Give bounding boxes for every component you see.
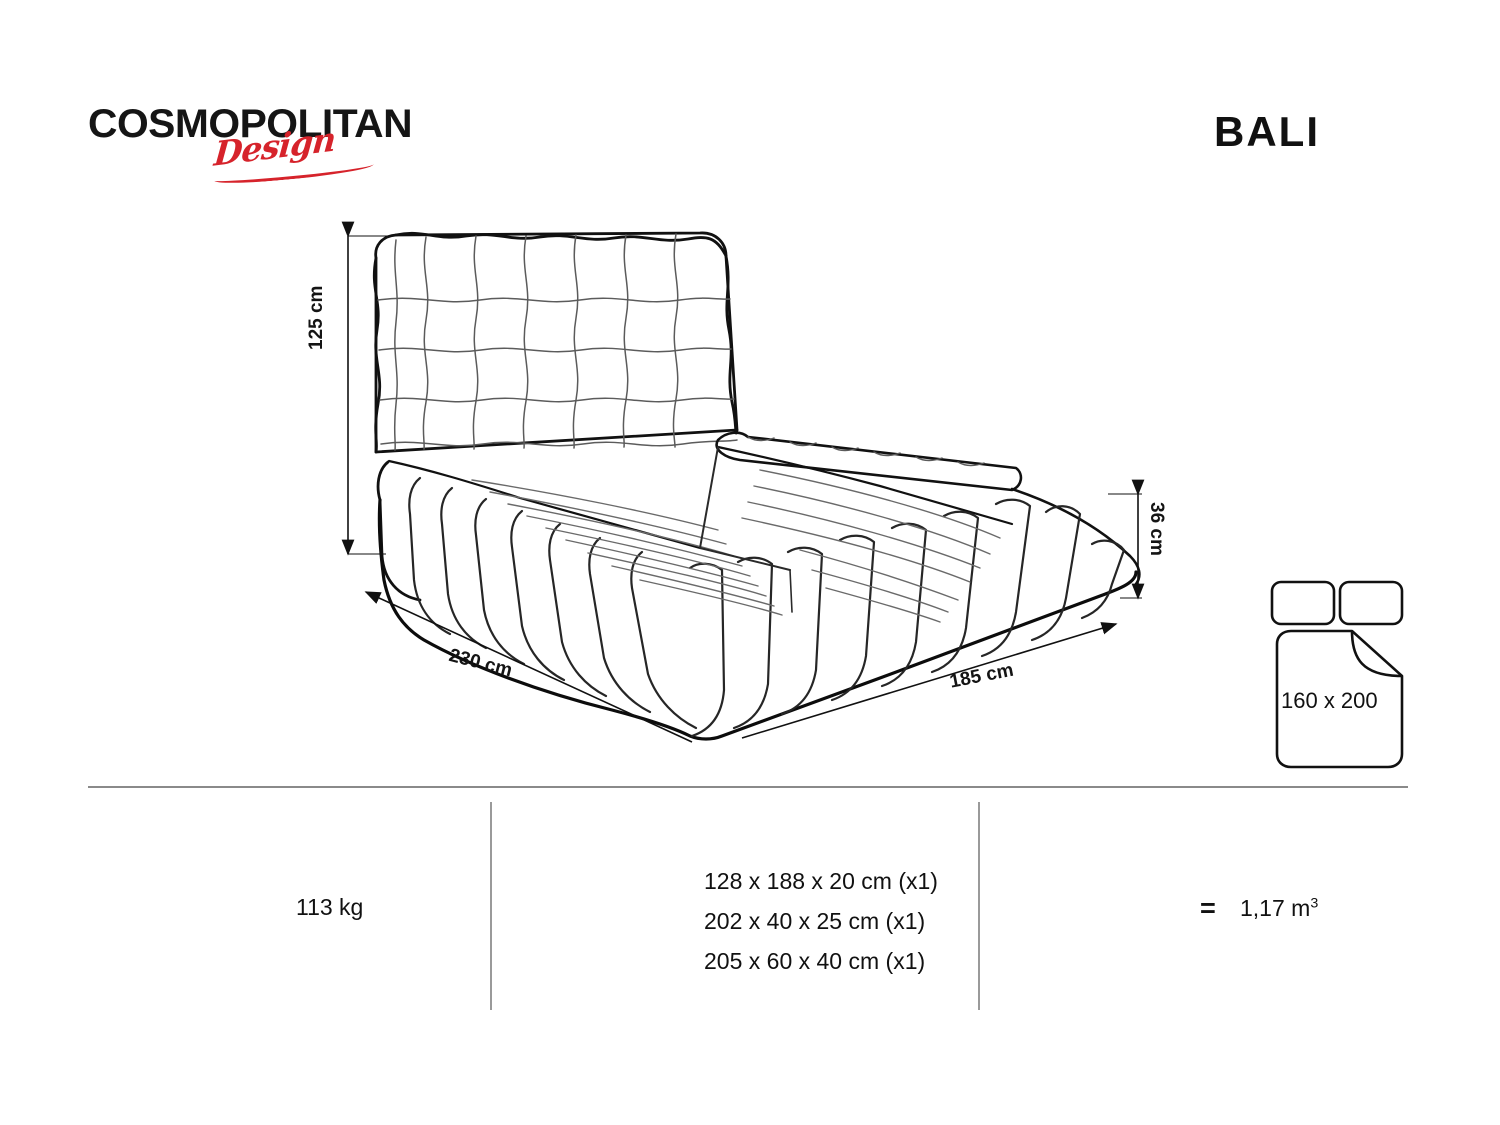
package-dimension-item: 128 x 188 x 20 cm (x1)	[704, 861, 938, 901]
volume-value: 1,17 m3	[1240, 895, 1318, 922]
pillow-right-icon	[1340, 582, 1402, 624]
section-divider	[88, 786, 1408, 788]
package-dimension-item: 205 x 60 x 40 cm (x1)	[704, 941, 938, 981]
volume-value-number: 1,17 m	[1240, 895, 1310, 921]
dimension-label-height: 125 cm	[306, 286, 328, 350]
bed-technical-drawing: kg m3	[0, 0, 1500, 800]
column-divider-1	[490, 802, 492, 1010]
package-dimensions-list: 128 x 188 x 20 cm (x1) 202 x 40 x 25 cm …	[704, 861, 938, 981]
spec-sheet: COSMOPOLITAN Design BALI	[0, 0, 1500, 1125]
dimension-label-base-height: 36 cm	[1145, 502, 1167, 556]
mattress-size-icon	[1272, 582, 1402, 767]
volume-value-exponent: 3	[1310, 895, 1318, 911]
dimension-line-depth	[366, 592, 692, 742]
package-dimension-item: 202 x 40 x 25 cm (x1)	[704, 901, 938, 941]
volume-equals-sign: =	[1200, 893, 1215, 924]
pillow-left-icon	[1272, 582, 1334, 624]
weight-value: 113 kg	[296, 894, 363, 921]
dimension-line-width	[742, 624, 1116, 738]
column-divider-2	[978, 802, 980, 1010]
mattress-size-label: 160 x 200	[1281, 688, 1378, 714]
